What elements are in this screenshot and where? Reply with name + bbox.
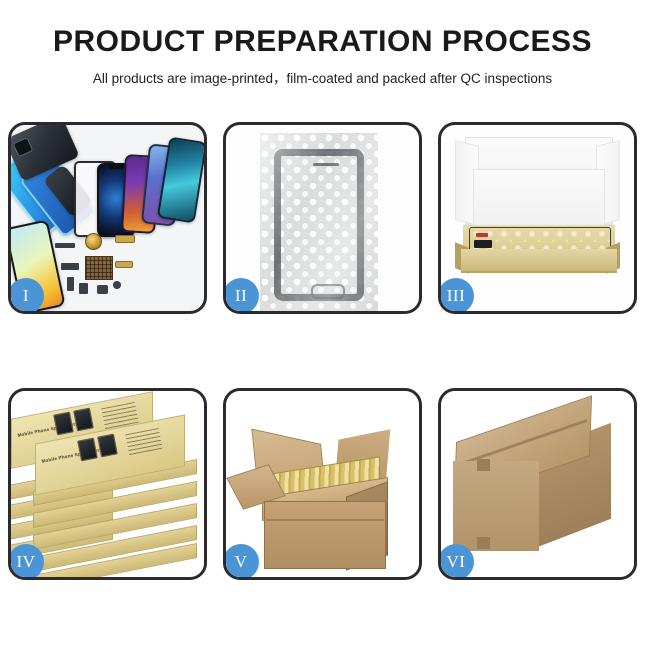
camera-module-icon — [97, 285, 108, 294]
process-step-5: V — [223, 388, 422, 580]
foam-liner-icon — [473, 169, 605, 233]
red-label-icon — [476, 233, 488, 237]
phone-screen-icon — [274, 149, 364, 301]
carton-seam-icon — [266, 519, 384, 521]
connector-icon — [67, 277, 74, 291]
earpiece-icon — [313, 163, 339, 166]
step-2-image: II — [226, 125, 419, 311]
page-subtitle: All products are image-printed，film-coat… — [0, 67, 645, 87]
step-6-badge: VI — [441, 544, 474, 577]
carton-tape-bottom-icon — [477, 537, 490, 549]
process-step-3: III — [438, 122, 637, 314]
screw-set-icon — [113, 281, 121, 289]
process-step-1: I — [8, 122, 207, 314]
carton-front-panel-icon — [264, 501, 386, 569]
battery-connector-icon — [79, 283, 88, 294]
process-step-2: II — [223, 122, 422, 314]
logic-chip-icon — [85, 256, 113, 280]
step-3-badge: III — [441, 278, 474, 311]
sealed-carton-front-icon — [453, 461, 539, 551]
step-6-image: VI — [441, 391, 634, 577]
process-step-6: VI — [438, 388, 637, 580]
flex-cable-2-icon — [115, 261, 133, 268]
header: PRODUCT PREPARATION PROCESS All products… — [0, 0, 645, 87]
bubble-wrap-icon — [260, 133, 378, 311]
page-title: PRODUCT PREPARATION PROCESS — [0, 26, 645, 58]
flex-cable-icon — [115, 235, 135, 243]
step-2-badge: II — [226, 278, 259, 311]
part-bar-icon — [55, 243, 75, 248]
step-4-badge: IV — [11, 544, 44, 577]
step-5-badge: V — [226, 544, 259, 577]
process-step-4: Mobile Phone Spare Parts Mobile Phone Sp… — [8, 388, 207, 580]
black-label-icon — [474, 240, 492, 248]
step-3-image: III — [441, 125, 634, 311]
step-5-image: V — [226, 391, 419, 577]
bracket-icon — [61, 263, 79, 270]
step-1-image: I — [11, 125, 204, 311]
speaker-coil-icon — [85, 233, 102, 250]
process-step-grid: I II — [8, 122, 637, 580]
carton-tape-top-icon — [477, 459, 490, 471]
box-front-panel-icon — [461, 249, 617, 273]
product-preparation-infographic: PRODUCT PREPARATION PROCESS All products… — [0, 0, 645, 645]
home-button-icon — [311, 284, 345, 299]
step-1-badge: I — [11, 278, 44, 311]
step-4-image: Mobile Phone Spare Parts Mobile Phone Sp… — [11, 391, 204, 577]
